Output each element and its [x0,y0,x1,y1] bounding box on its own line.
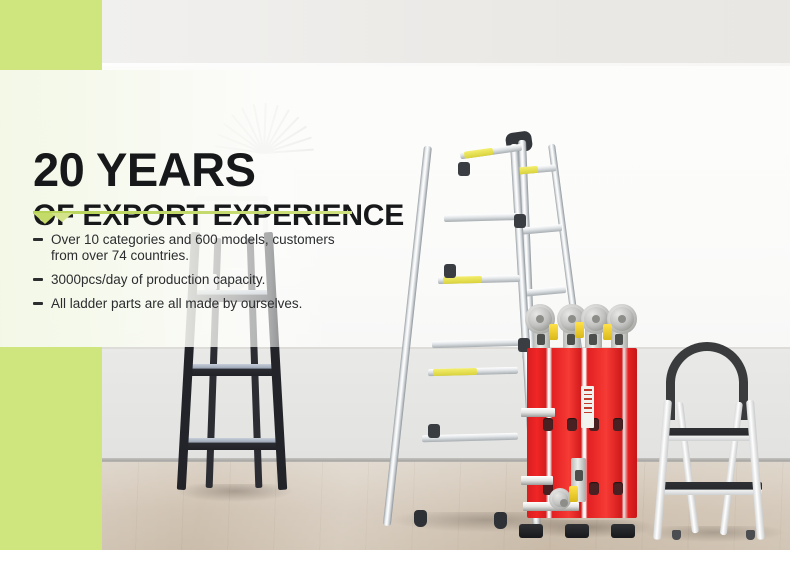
red-ladder-foot-mid [565,524,589,538]
green-block-top-left [0,0,102,70]
ladder-foot-front-right [494,512,507,529]
dash-bullet-icon [33,302,43,305]
red-ladder-foot-right [611,524,635,538]
red-ladder-tread-1 [521,408,555,417]
green-block-bottom-left [0,347,102,550]
red-ladder-hole-1 [543,418,553,431]
list-item: All ladder parts are all made by ourselv… [33,296,373,312]
red-ladder-lock-pin-1 [549,324,558,340]
red-ladder-spec-label [581,386,594,428]
red-ladder-hinge-low-1 [549,488,571,510]
red-ladder-foot-left [519,524,543,538]
red-ladder-hole-4 [613,418,623,431]
shelf-board-middle [188,364,276,376]
red-ladder-hole-7 [613,482,623,495]
red-ladder-hole-6 [589,482,599,495]
list-item-line1: 3000pcs/day of production capacity. [51,272,265,287]
ladder-foot-front-left [414,510,427,527]
ladder-joint-top [458,162,470,176]
dash-bullet-icon [33,238,43,241]
white-two-step-stool [650,342,778,538]
title-underline-accent [33,211,352,227]
stool-leg-back-right [720,402,743,536]
red-multipurpose-folding-ladder [519,300,644,538]
dash-bullet-icon [33,278,43,281]
stool-leg-front-left [653,400,672,540]
wall-upper-band [0,0,790,66]
list-item: Over 10 categories and 600 models, custo… [33,232,373,264]
underline-triangle-inner [51,213,73,222]
ladder-rear-joint-1 [514,214,526,228]
list-item: 3000pcs/day of production capacity. [33,272,373,288]
red-ladder-lock-pin-2 [575,322,584,338]
shelf-board-bottom [182,438,282,450]
red-ladder-lock-pin-4 [569,486,578,502]
ladder-step-2 [444,213,520,222]
ladder-step-5 [428,367,518,376]
stool-tread-lower [658,482,762,495]
bottom-white-strip [0,550,790,576]
ladder-joint-mid [444,264,456,278]
ladder-step-4 [432,339,520,348]
stool-leg-back-left [676,402,699,534]
page-title: 20 YEARS [33,146,255,193]
promo-banner: 20 YEARS OF EXPORT EXPERIENCE Over 10 ca… [0,0,790,576]
red-ladder-hole-2 [567,418,577,431]
list-item-line1: All ladder parts are all made by ourselv… [51,296,302,311]
stool-tread-upper [664,428,754,441]
red-ladder-tread-2 [521,476,553,485]
feature-list: Over 10 categories and 600 models, custo… [33,232,373,320]
stool-leg-front-right [746,400,765,540]
underline-bar [33,211,352,214]
red-ladder-lock-pin-3 [603,324,612,340]
stool-foot-right [746,530,755,540]
stool-foot-left [672,530,681,540]
list-item-line1: Over 10 categories and 600 models, custo… [51,232,335,247]
list-item-line2: from over 74 countries. [51,248,373,264]
ladder-joint-low [428,424,440,438]
